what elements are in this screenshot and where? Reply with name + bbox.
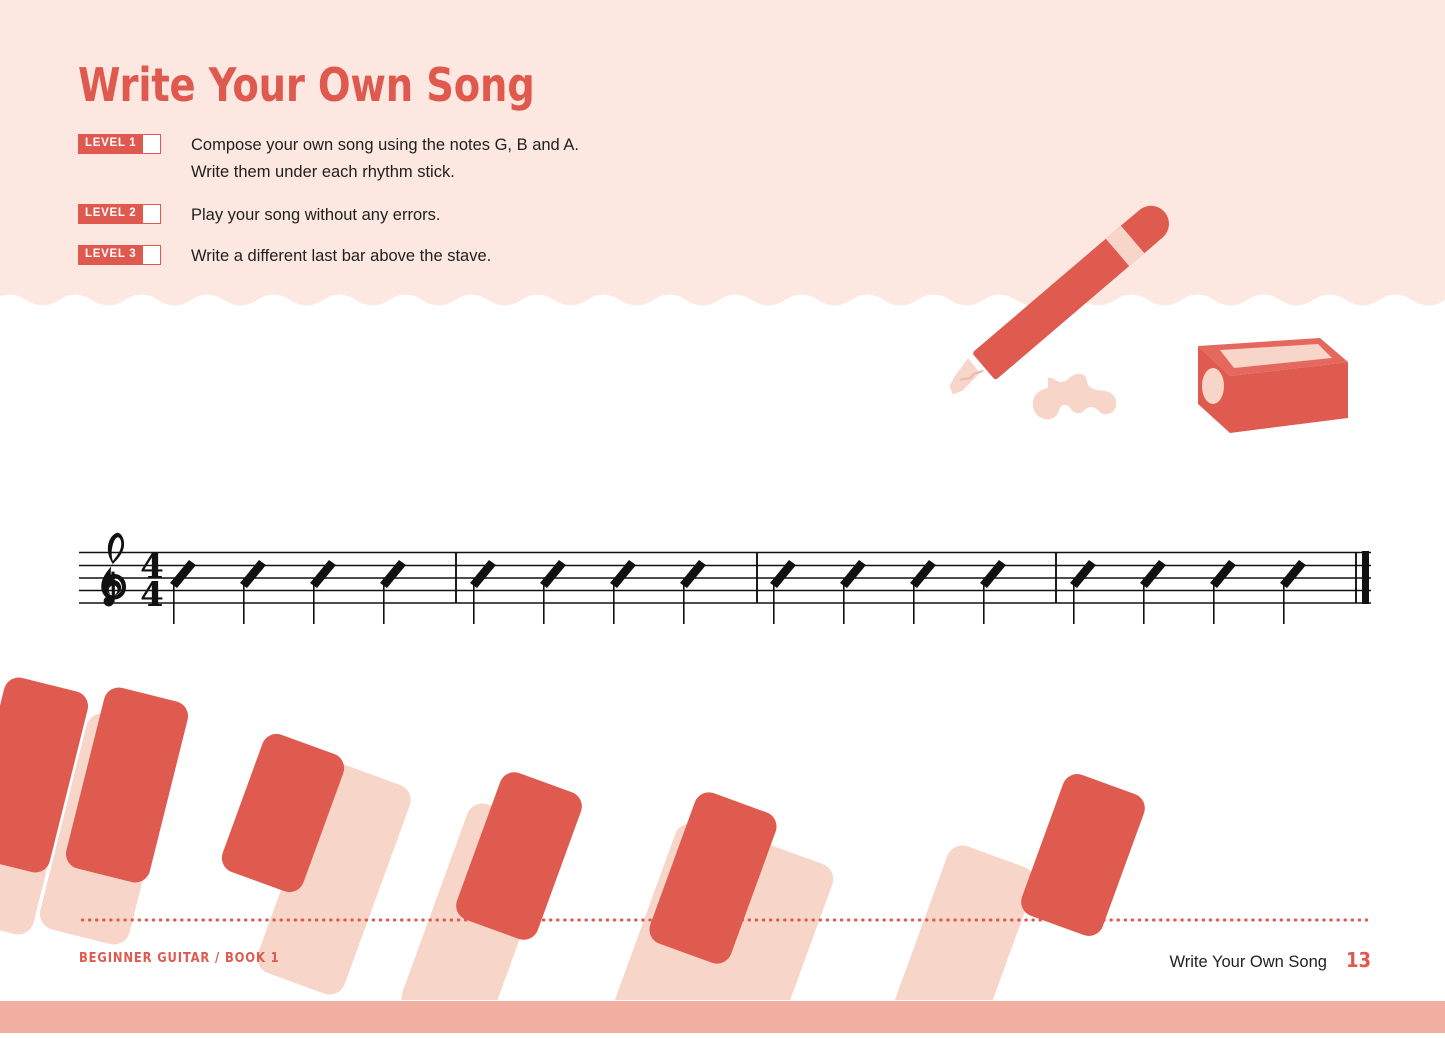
pencil-illustration: [920, 190, 1370, 455]
stationery-illustration-icon: [920, 190, 1370, 455]
footer-book-label: BEGINNER GUITAR / BOOK 1: [79, 950, 280, 966]
final-barline: [1356, 551, 1369, 604]
level-description-line: Compose your own song using the notes G,…: [191, 136, 579, 154]
level-description-line: Write a different last bar above the sta…: [191, 247, 491, 265]
dotted-divider: [79, 918, 1371, 922]
rhythm-slash: [540, 560, 566, 624]
level-badge-group: LEVEL 3: [78, 245, 178, 265]
rhythm-slash-group: [170, 560, 1306, 624]
rhythm-slash: [840, 560, 866, 624]
rhythm-slash: [170, 560, 196, 624]
level-badge-group: LEVEL 2: [78, 204, 178, 224]
level-badge-label: LEVEL 2: [78, 204, 143, 224]
level-checklist: LEVEL 1 Compose your own song using the …: [78, 132, 778, 284]
barline: [456, 552, 1056, 603]
rhythm-slash: [470, 560, 496, 624]
level-badge-group: LEVEL 1: [78, 134, 178, 154]
level-description: Write a different last bar above the sta…: [191, 243, 491, 270]
footer-page-number: 13: [1346, 948, 1371, 972]
time-signature: 4 4: [140, 547, 164, 615]
page-footer: BEGINNER GUITAR / BOOK 1 Write Your Own …: [0, 950, 1445, 984]
rhythm-slash: [310, 560, 336, 624]
level-description-line: Play your song without any errors.: [191, 206, 440, 224]
pencil-sharpener-icon: [1198, 338, 1348, 433]
piano-keys-icon: [0, 640, 1445, 1000]
level-checkbox[interactable]: [142, 245, 161, 265]
level-row: LEVEL 2 Play your song without any error…: [78, 202, 778, 229]
rhythm-slash: [1210, 560, 1236, 624]
piano-keys-decoration: [0, 640, 1445, 1000]
time-signature-denominator: 4: [140, 575, 164, 615]
rhythm-slash: [770, 560, 796, 624]
level-description: Play your song without any errors.: [191, 202, 440, 229]
level-badge-label: LEVEL 1: [78, 134, 143, 154]
time-signature-numerator: 4: [140, 547, 164, 587]
rhythm-slash: [380, 560, 406, 624]
rhythm-slash: [980, 560, 1006, 624]
rhythm-slash: [610, 560, 636, 624]
pencil-shavings-icon: [1033, 374, 1116, 420]
rhythm-slash: [1140, 560, 1166, 624]
rhythm-slash: [1070, 560, 1096, 624]
level-description: Compose your own song using the notes G,…: [191, 132, 579, 186]
rhythm-slash: [1280, 560, 1306, 624]
footer-right-group: Write Your Own Song 13: [1170, 948, 1372, 972]
footer-chapter-label: Write Your Own Song: [1170, 953, 1327, 972]
rhythm-slash: [680, 560, 706, 624]
rhythm-slash: [910, 560, 936, 624]
level-row: LEVEL 1 Compose your own song using the …: [78, 132, 778, 186]
rhythm-slash: [240, 560, 266, 624]
level-badge-label: LEVEL 3: [78, 245, 143, 265]
page-title: Write Your Own Song: [78, 58, 535, 112]
level-row: LEVEL 3 Write a different last bar above…: [78, 243, 778, 270]
bottom-accent-bar: [0, 1001, 1445, 1033]
pencil-icon: [920, 190, 1176, 394]
treble-clef-icon: [101, 533, 126, 607]
level-checkbox[interactable]: [142, 204, 161, 224]
level-checkbox[interactable]: [142, 134, 161, 154]
level-description-line: Write them under each rhythm stick.: [191, 159, 579, 186]
